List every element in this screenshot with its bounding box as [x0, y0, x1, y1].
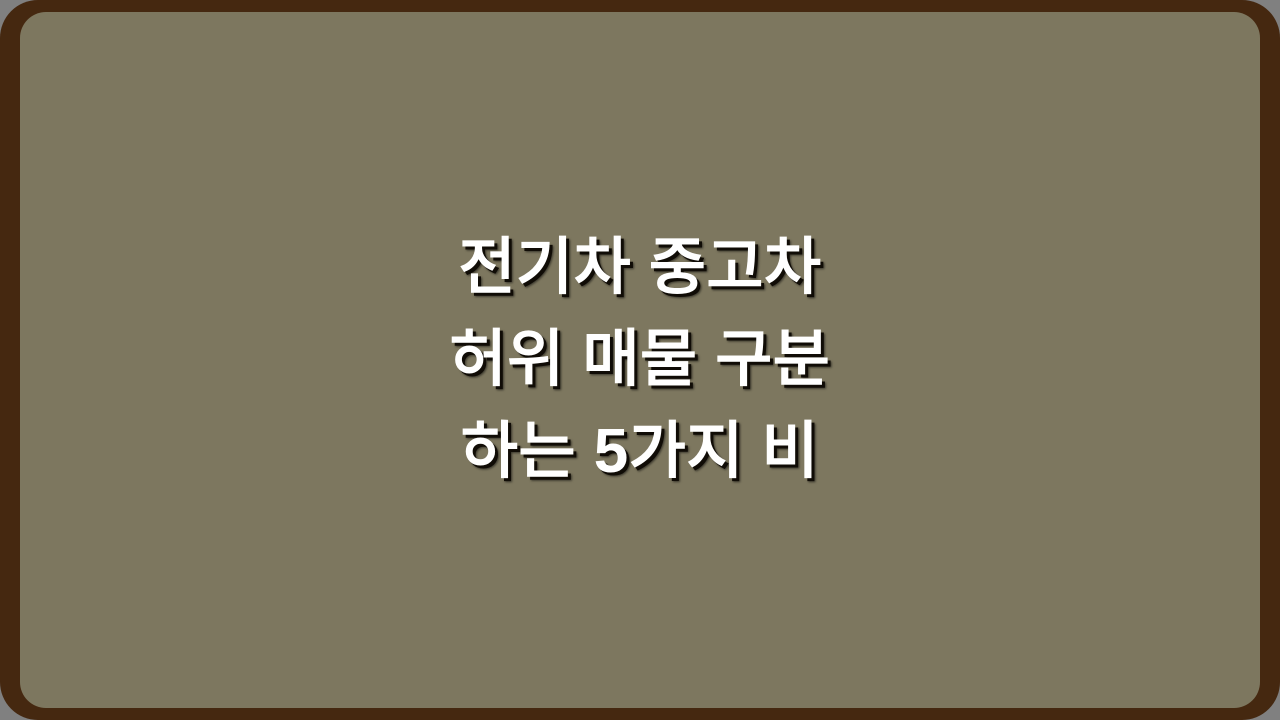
- title-block: 전기차 중고차 허위 매물 구분 하는 5가지 비: [20, 222, 1260, 498]
- title-line-2: 허위 매물 구분: [60, 314, 1220, 406]
- title-line-3: 하는 5가지 비: [60, 406, 1220, 498]
- card-inner-panel: 전기차 중고차 허위 매물 구분 하는 5가지 비: [20, 12, 1260, 708]
- title-line-1: 전기차 중고차: [60, 222, 1220, 314]
- card-frame-border: 전기차 중고차 허위 매물 구분 하는 5가지 비: [0, 0, 1280, 720]
- screenshot-canvas: 전기차 중고차 허위 매물 구분 하는 5가지 비: [0, 0, 1280, 720]
